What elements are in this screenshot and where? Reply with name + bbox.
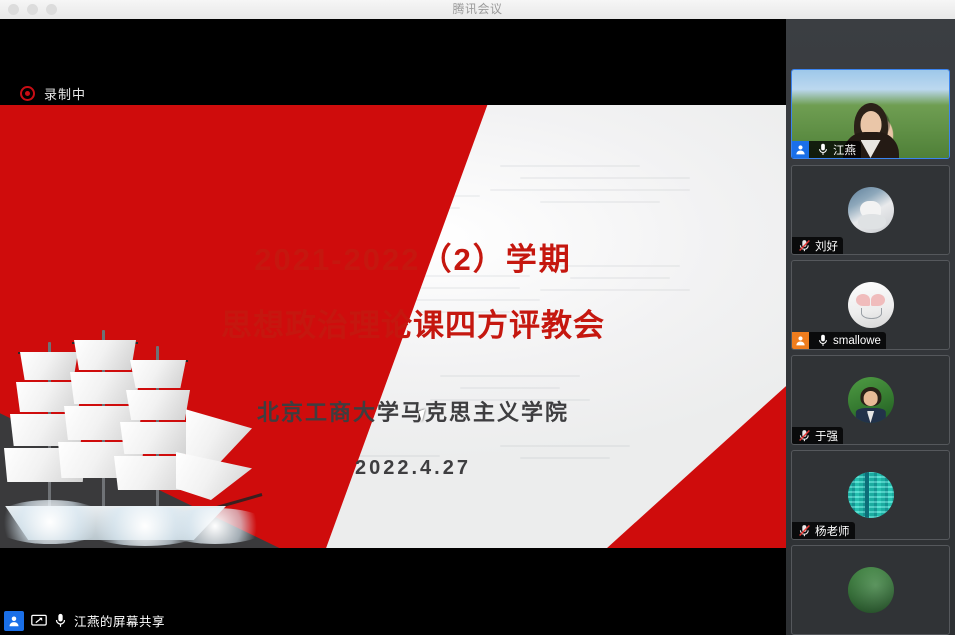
participant-tile[interactable] [791, 545, 950, 635]
participant-tile[interactable]: 刘好 [791, 165, 950, 255]
microphone-icon [54, 613, 67, 628]
participant-name: 于强 [815, 428, 838, 444]
participant-name: 江燕 [833, 142, 856, 158]
shared-screen-stage: 录制中 [0, 19, 786, 635]
avatar [848, 282, 894, 328]
window-title: 腾讯会议 [0, 0, 955, 19]
microphone-muted-icon [798, 429, 811, 442]
microphone-icon [816, 334, 829, 347]
participant-namebar: 于强 [792, 427, 843, 444]
person-icon [792, 141, 809, 158]
avatar [848, 377, 894, 423]
person-icon [4, 611, 24, 631]
window-title-bar: 腾讯会议 [0, 0, 955, 20]
tencent-meeting-window: 腾讯会议 录制中 [0, 0, 955, 635]
participant-sidebar[interactable]: 江燕 刘好 [786, 19, 955, 635]
participant-namebar: 杨老师 [792, 522, 855, 539]
microphone-muted-icon [798, 524, 811, 537]
screen-share-icon [31, 614, 47, 628]
avatar [848, 187, 894, 233]
record-icon [20, 86, 35, 101]
person-icon [792, 332, 809, 349]
presentation-slide: 2021-2022（2）学期 思想政治理论课四方评教会 北京工商大学马克思主义学… [0, 105, 786, 548]
participant-namebar: smallowe [792, 332, 886, 349]
share-status-text: 江燕的屏幕共享 [74, 611, 165, 630]
participant-name: smallowe [833, 335, 881, 347]
slide-title-line-1: 2021-2022（2）学期 [0, 234, 786, 279]
recording-indicator: 录制中 [20, 84, 86, 103]
participant-name: 杨老师 [815, 523, 850, 539]
participant-tile[interactable]: 于强 [791, 355, 950, 445]
participant-name: 刘好 [815, 238, 838, 254]
microphone-muted-icon [798, 239, 811, 252]
participant-namebar: 刘好 [792, 237, 843, 254]
recording-label: 录制中 [44, 84, 86, 103]
participant-tile[interactable]: smallowe [791, 260, 950, 350]
participant-namebar: 江燕 [792, 141, 861, 158]
participant-tile[interactable]: 江燕 [791, 69, 950, 159]
participant-tile[interactable]: 杨老师 [791, 450, 950, 540]
avatar [848, 567, 894, 613]
share-status-bar: 江燕的屏幕共享 [0, 606, 786, 635]
slide-date: 2022.4.27 [0, 457, 786, 480]
avatar [848, 472, 894, 518]
slide-organization: 北京工商大学马克思主义学院 [0, 395, 786, 427]
microphone-icon [816, 143, 829, 156]
slide-title-line-2: 思想政治理论课四方评教会 [0, 300, 786, 345]
